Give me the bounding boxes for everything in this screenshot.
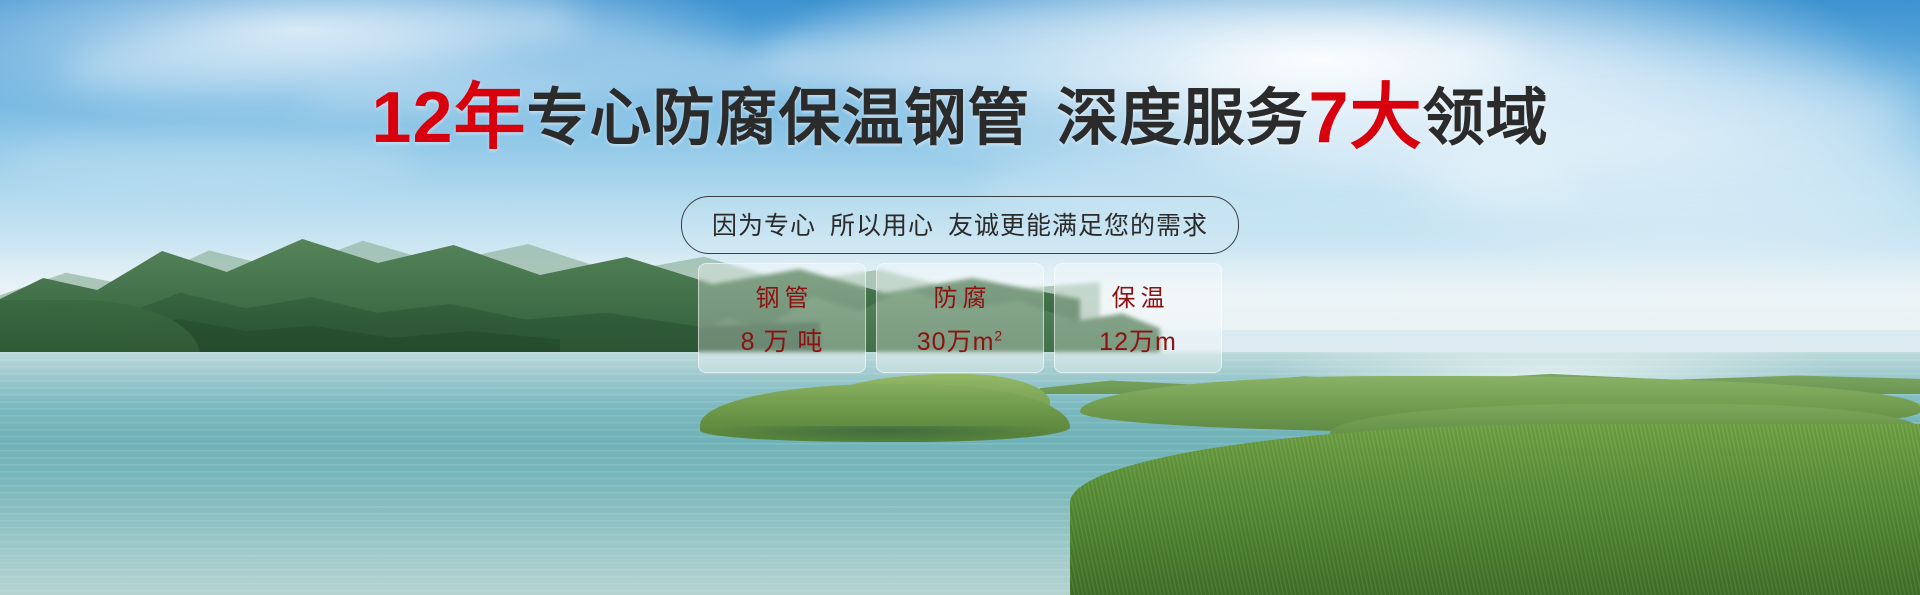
headline-years: 12年 (371, 78, 526, 158)
stat-card-value-superscript: 2 (994, 328, 1003, 344)
subtitle-segment-3: 友诚更能满足您的需求 (948, 212, 1208, 240)
stat-card-value: 12万m (1099, 322, 1177, 358)
stat-card-value: 8 万 吨 (741, 322, 824, 358)
stat-card-group: 钢管 8 万 吨 防腐 30万m2 保温 12万m (0, 263, 1920, 373)
subtitle-segment-1: 因为专心 (712, 212, 816, 240)
stat-card-insulation: 保温 12万m (1054, 263, 1222, 373)
banner-content: 12年专心防腐保温钢管深度服务7大领域 因为专心所以用心友诚更能满足您的需求 钢… (0, 0, 1920, 595)
stat-card-value-text: 12万m (1099, 328, 1177, 356)
stat-card-steel-pipe: 钢管 8 万 吨 (698, 263, 866, 373)
headline-seven: 7大 (1309, 78, 1423, 158)
headline-main: 专心防腐保温钢管 (527, 84, 1031, 153)
banner-subtitle-wrap: 因为专心所以用心友诚更能满足您的需求 (0, 196, 1920, 254)
stat-card-title: 保温 (1107, 278, 1170, 313)
stat-card-value-text: 8 万 吨 (741, 328, 824, 356)
banner-headline: 12年专心防腐保温钢管深度服务7大领域 (0, 82, 1920, 154)
subtitle-segment-2: 所以用心 (830, 212, 934, 240)
stat-card-title: 防腐 (929, 278, 992, 313)
hero-banner: 12年专心防腐保温钢管深度服务7大领域 因为专心所以用心友诚更能满足您的需求 钢… (0, 0, 1920, 595)
stat-card-title: 钢管 (751, 278, 814, 313)
headline-service: 深度服务 (1057, 84, 1309, 153)
stat-card-value-text: 30万m (917, 328, 995, 356)
stat-card-anticorrosion: 防腐 30万m2 (876, 263, 1044, 373)
banner-subtitle-pill: 因为专心所以用心友诚更能满足您的需求 (681, 196, 1239, 254)
stat-card-value: 30万m2 (917, 322, 1003, 358)
headline-fields: 领域 (1423, 84, 1549, 153)
